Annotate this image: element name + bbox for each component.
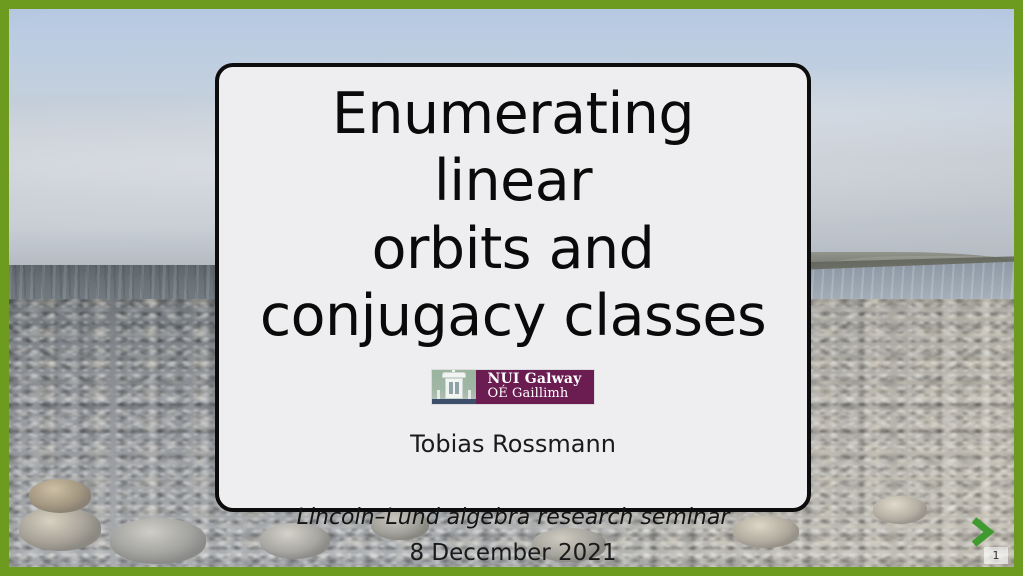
nui-galway-logo: NUI Galway OÉ Gaillimh <box>432 370 593 404</box>
cobble-stone <box>19 507 101 551</box>
tower-icon <box>432 370 476 404</box>
page-title: Enumerating linear orbits and conjugacy … <box>245 81 781 350</box>
cobble-stone <box>733 516 799 548</box>
cobble-stone <box>29 479 91 513</box>
presentation-date: 8 December 2021 <box>409 540 616 566</box>
cobble-stone <box>873 496 927 524</box>
title-line-1: Enumerating linear <box>332 81 694 214</box>
title-line-3: conjugacy classes <box>260 283 766 349</box>
title-card: Enumerating linear orbits and conjugacy … <box>215 63 811 512</box>
venue-name: Lincoln–Lund algebra research seminar <box>297 505 730 530</box>
title-line-2: orbits and <box>372 216 655 282</box>
slide-canvas: Enumerating linear orbits and conjugacy … <box>9 9 1014 567</box>
next-slide-button[interactable] <box>967 515 997 549</box>
author-name: Tobias Rossmann <box>410 430 616 458</box>
cobble-stone <box>110 518 206 564</box>
presentation-viewer: Enumerating linear orbits and conjugacy … <box>0 0 1023 576</box>
logo-line-english: NUI Galway <box>487 372 581 387</box>
logo-line-irish: OÉ Gaillimh <box>487 387 581 401</box>
logo-wordmark: NUI Galway OÉ Gaillimh <box>476 370 593 404</box>
chevron-right-icon[interactable] <box>967 515 997 549</box>
slide-number-badge: 1 <box>984 547 1008 564</box>
